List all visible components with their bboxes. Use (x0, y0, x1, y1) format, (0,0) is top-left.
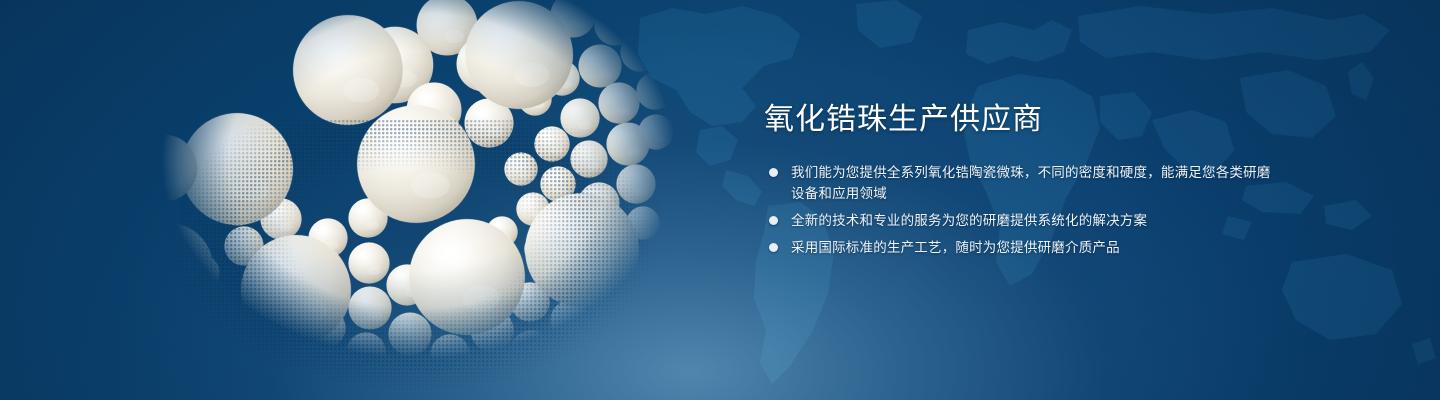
banner-headline: 氧化锆珠生产供应商 (764, 104, 1282, 136)
bullet-item-1: 我们能为您提供全系列氧化锆陶瓷微珠，不同的密度和硬度，能满足您各类研磨设备和应用… (762, 162, 1282, 204)
bullet-item-3: 采用国际标准的生产工艺，随时为您提供研磨介质产品 (762, 237, 1282, 258)
bullet-dot-icon (769, 243, 778, 252)
zirconia-beads-photo (120, 0, 720, 400)
bullet-item-3-text: 采用国际标准的生产工艺，随时为您提供研磨介质产品 (791, 237, 1282, 258)
bullet-item-1-text: 我们能为您提供全系列氧化锆陶瓷微珠，不同的密度和硬度，能满足您各类研磨设备和应用… (791, 162, 1282, 204)
bullet-dot-icon (769, 216, 778, 225)
banner-bullet-list: 我们能为您提供全系列氧化锆陶瓷微珠，不同的密度和硬度，能满足您各类研磨设备和应用… (762, 162, 1282, 258)
hero-banner: 氧化锆珠生产供应商 我们能为您提供全系列氧化锆陶瓷微珠，不同的密度和硬度，能满足… (0, 0, 1440, 400)
bullet-item-2: 全新的技术和专业的服务为您的研磨提供系统化的解决方案 (762, 210, 1282, 231)
bullet-dot-icon (769, 168, 778, 177)
bullet-item-2-text: 全新的技术和专业的服务为您的研磨提供系统化的解决方案 (791, 210, 1282, 231)
banner-copy-block: 氧化锆珠生产供应商 我们能为您提供全系列氧化锆陶瓷微珠，不同的密度和硬度，能满足… (762, 104, 1282, 258)
